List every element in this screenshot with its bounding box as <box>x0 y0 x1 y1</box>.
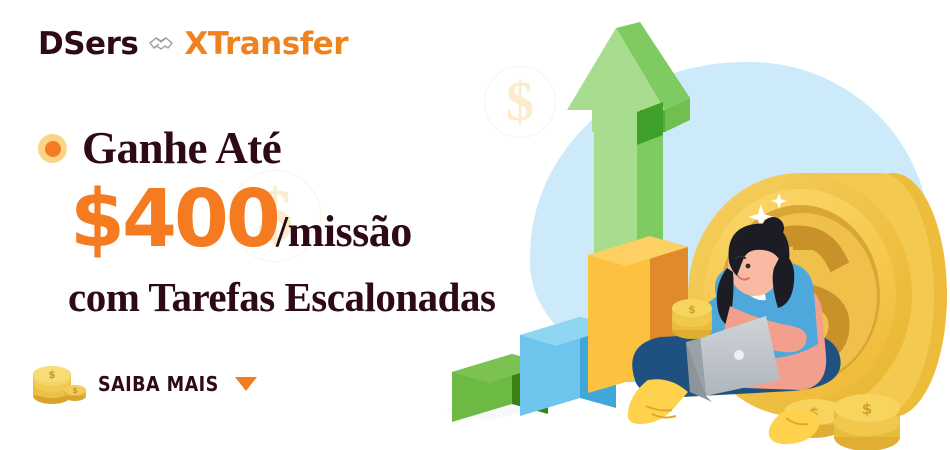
price-row: $400 /missão <box>70 180 412 259</box>
headline-text: Ganhe Até <box>82 126 281 171</box>
price-unit: /missão <box>276 210 412 254</box>
handshake-icon <box>148 34 174 54</box>
svg-text:$: $ <box>688 303 696 316</box>
learn-more-button[interactable]: $ $ SAIBA MAIS <box>28 362 257 406</box>
dsers-logo: DSers <box>38 26 138 62</box>
caret-down-icon[interactable] <box>235 377 257 391</box>
headline-line-3: com Tarefas Escalonadas <box>68 277 495 318</box>
coin-stack-icon: $ <box>672 299 712 339</box>
coin-stack-icon: $ $ <box>28 362 86 406</box>
logo-lockup: DSers XTransfer <box>38 26 348 62</box>
learn-more-label: SAIBA MAIS <box>98 372 219 396</box>
price-amount: $400 <box>70 180 278 259</box>
svg-text:$: $ <box>72 386 78 395</box>
xtransfer-logo: XTransfer <box>184 26 348 62</box>
headline-line-1: Ganhe Até <box>38 126 281 171</box>
orange-dot-icon <box>38 134 67 163</box>
banner-content: DSers XTransfer Ganhe Até $400 /missão c… <box>0 0 580 450</box>
svg-text:$: $ <box>862 400 872 418</box>
svg-text:$: $ <box>49 370 56 381</box>
promo-banner: $ $ $ <box>0 0 950 450</box>
